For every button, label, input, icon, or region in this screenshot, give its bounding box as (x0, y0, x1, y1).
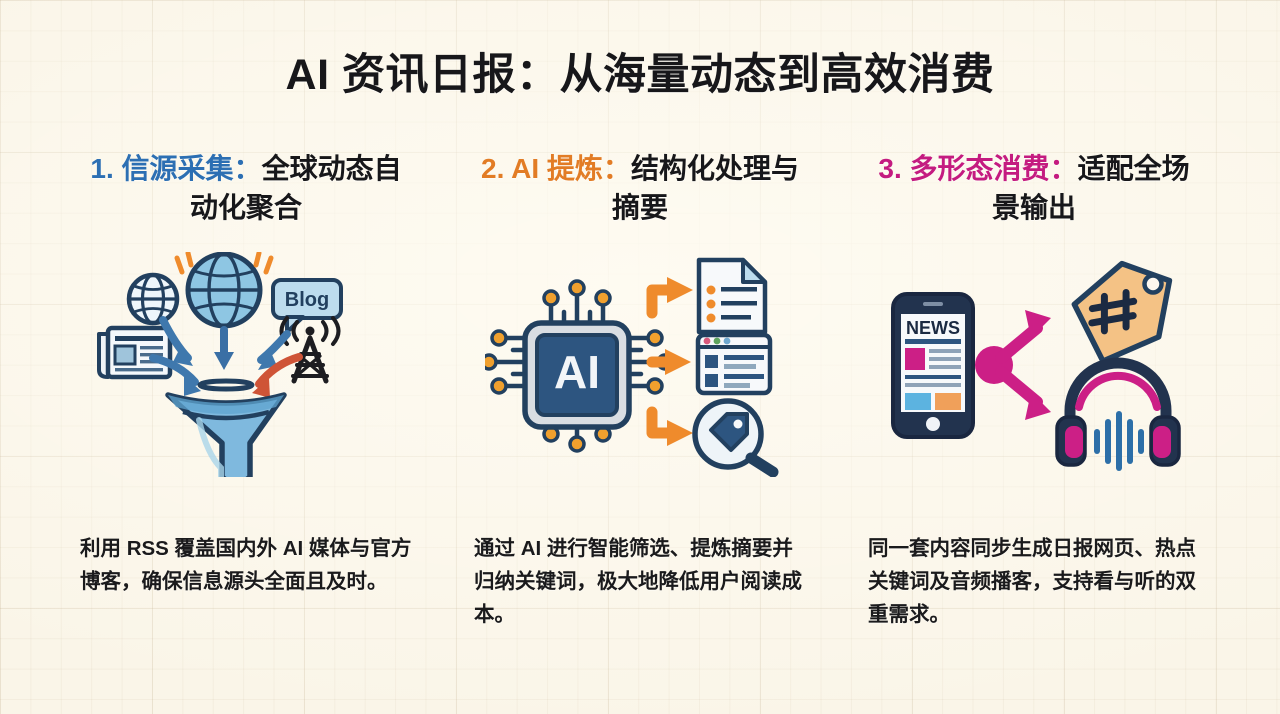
column-sources: 1. 信源采集：全球动态自动化聚合 (72, 150, 420, 670)
sources-funnel-icon: Blog (86, 249, 406, 479)
infographic-poster: AI 资讯日报：从海量动态到高效消费 1. 信源采集：全球动态自动化聚合 (0, 0, 1280, 714)
column-1-heading: 1. 信源采集：全球动态自动化聚合 (81, 150, 411, 227)
column-1-number: 1. (90, 153, 113, 184)
column-2-number: 2. (481, 153, 504, 184)
converging-arrows-icon (153, 320, 299, 398)
ai-chip-illustration: AI (485, 252, 795, 477)
keyword-search-output-icon (695, 401, 773, 472)
multimodal-output-icon: NEWS (874, 249, 1194, 479)
column-3-heading: 3. 多形态消费：适配全场景输出 (869, 150, 1199, 227)
audio-waveform-icon (1097, 414, 1141, 468)
column-2-heading: 2. AI 提炼：结构化处理与摘要 (475, 150, 805, 227)
output-arrowheads-icon (665, 277, 693, 446)
column-1-accent-title: 信源采集： (122, 153, 262, 184)
newspaper-icon (99, 328, 170, 377)
column-ai-processing: 2. AI 提炼：结构化处理与摘要 (466, 150, 814, 670)
column-multimodal: 3. 多形态消费：适配全场景输出 NEWS (860, 150, 1208, 670)
blog-bubble-label: Blog (285, 289, 329, 311)
column-3-description: 同一套内容同步生成日报网页、热点关键词及音频播客，支持看与听的双重需求。 (868, 532, 1204, 632)
column-2-description: 通过 AI 进行智能筛选、提炼摘要并归纳关键词，极大地降低用户阅读成本。 (474, 532, 810, 632)
hashtag-tag-icon (1068, 253, 1185, 364)
headphones-audio-icon (1057, 363, 1179, 468)
ai-chip-processing-icon: AI (480, 249, 800, 479)
branching-arrows-icon (975, 310, 1051, 420)
column-2-accent-title: AI 提炼： (511, 153, 631, 184)
sources-funnel-illustration: Blog (91, 252, 401, 477)
phone-news-icon: NEWS (893, 294, 973, 437)
columns-container: 1. 信源采集：全球动态自动化聚合 (0, 150, 1280, 670)
phone-screen-label: NEWS (906, 318, 960, 338)
chip-body-icon: AI (525, 323, 629, 427)
globe-small-icon (129, 275, 177, 323)
page-title: AI 资讯日报：从海量动态到高效消费 (0, 40, 1280, 102)
chip-label: AI (554, 346, 600, 398)
column-1-description: 利用 RSS 覆盖国内外 AI 媒体与官方博客，确保信息源头全面且及时。 (80, 532, 416, 598)
column-2-rest-title: 结构化处理与摘要 (612, 153, 799, 223)
globe-large-icon (188, 254, 260, 326)
browser-window-output-icon (698, 335, 770, 393)
multimodal-illustration: NEWS (879, 252, 1189, 477)
document-output-icon (699, 260, 765, 332)
column-3-number: 3. (878, 153, 901, 184)
column-3-accent-title: 多形态消费： (910, 153, 1078, 184)
